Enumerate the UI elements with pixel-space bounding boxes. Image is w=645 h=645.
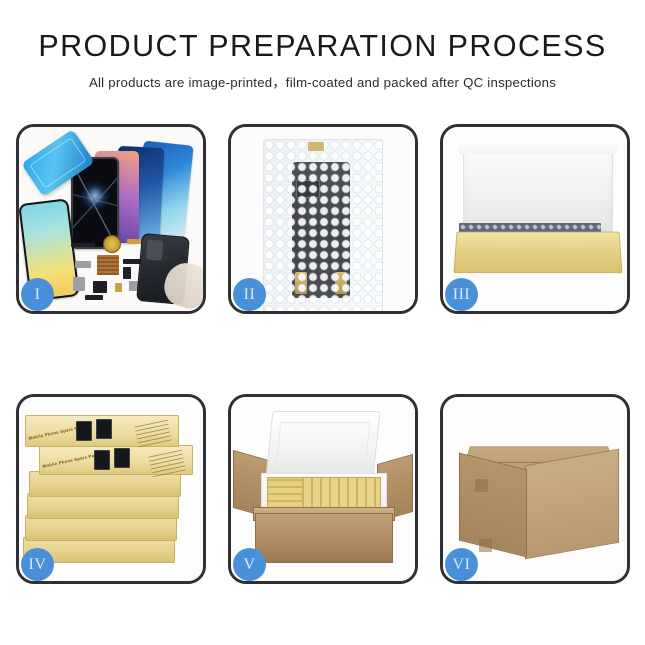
part-button-set bbox=[93, 281, 107, 293]
kraft-box-tray-icon bbox=[453, 232, 622, 274]
sealed-carton-left-icon bbox=[459, 453, 527, 558]
stacked-box-2: Mobile Phone Spare Parts bbox=[39, 445, 193, 475]
process-step-5: V bbox=[228, 394, 418, 584]
box-art-screen-b2 bbox=[114, 448, 130, 468]
step-badge-5: V bbox=[233, 548, 266, 581]
step-badge-6: VI bbox=[445, 548, 478, 581]
step-badge-1: I bbox=[21, 278, 54, 311]
step-badge-2: II bbox=[233, 278, 266, 311]
process-step-3: III bbox=[440, 124, 630, 314]
product-preparation-infographic: PRODUCT PREPARATION PROCESS All products… bbox=[0, 0, 645, 645]
part-sim-tray bbox=[73, 277, 85, 291]
part-flex-strip bbox=[71, 243, 95, 247]
bubble-wrap-bag-icon bbox=[263, 139, 383, 311]
box-art-screen-a1 bbox=[76, 421, 92, 441]
carton-tape-mark-2-icon bbox=[479, 539, 492, 552]
box-art-screen-a2 bbox=[94, 450, 110, 470]
process-step-2: II bbox=[228, 124, 418, 314]
process-step-6: VI bbox=[440, 394, 630, 584]
foam-cooler-lid-icon bbox=[266, 411, 381, 477]
stacked-box-top: Mobile Phone Spare Parts bbox=[25, 415, 179, 447]
box-art-screen-b1 bbox=[96, 419, 112, 439]
carton-tape-mark-1-icon bbox=[475, 479, 488, 492]
box-spec-lines-2 bbox=[148, 449, 186, 478]
step-badge-3: III bbox=[445, 278, 478, 311]
part-circuit-board bbox=[97, 255, 119, 275]
step-badge-4: IV bbox=[21, 548, 54, 581]
part-antenna bbox=[85, 295, 103, 300]
part-gold-screw bbox=[115, 283, 122, 292]
box-spec-lines-1 bbox=[134, 419, 172, 448]
page-title: PRODUCT PREPARATION PROCESS bbox=[0, 30, 645, 62]
bag-seal-tab-icon bbox=[308, 142, 324, 151]
part-bracket-grey bbox=[75, 261, 91, 268]
box-label-text-2: Mobile Phone Spare Parts bbox=[42, 452, 101, 469]
carton-front-icon bbox=[255, 513, 393, 563]
box-stack-group: Mobile Phone Spare Parts Mobile Phone Sp… bbox=[23, 409, 199, 575]
header: PRODUCT PREPARATION PROCESS All products… bbox=[0, 0, 645, 91]
bubble-texture bbox=[264, 140, 382, 311]
speaker-coil-icon bbox=[103, 235, 121, 253]
process-step-grid: I II bbox=[16, 124, 630, 584]
sealed-carton-right-icon bbox=[525, 449, 619, 560]
part-camera-module bbox=[123, 267, 131, 279]
process-step-1: I bbox=[16, 124, 206, 314]
page-subtitle: All products are image-printed，film-coat… bbox=[0, 72, 645, 91]
process-step-4: Mobile Phone Spare Parts Mobile Phone Sp… bbox=[16, 394, 206, 584]
